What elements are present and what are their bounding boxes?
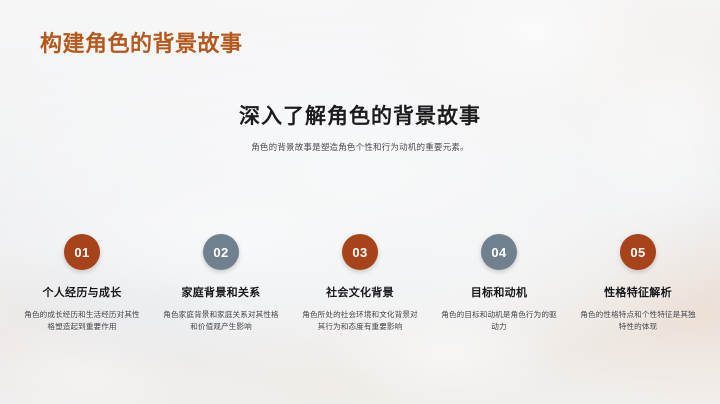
- step-number-badge-02: 02: [203, 234, 239, 270]
- step-number-badge-05: 05: [620, 234, 656, 270]
- feature-title-03: 社会文化背景: [326, 284, 394, 300]
- step-number-badge-01: 01: [64, 234, 100, 270]
- background-white-veil: [0, 0, 720, 404]
- feature-columns: 01 个人经历与成长 角色的成长经历和生活经历对其性格塑造起到重要作用 02 家…: [18, 234, 702, 334]
- feature-column-04: 04 目标和动机 角色的目标和动机是角色行为的驱动力: [435, 234, 563, 334]
- feature-title-01: 个人经历与成长: [42, 284, 121, 300]
- feature-column-05: 05 性格特征解析 角色的性格特点和个性特征是其独特性的体现: [574, 234, 702, 334]
- step-number-badge-04: 04: [481, 234, 517, 270]
- feature-column-01: 01 个人经历与成长 角色的成长经历和生活经历对其性格塑造起到重要作用: [18, 234, 146, 334]
- slide-title: 构建角色的背景故事: [40, 26, 243, 58]
- feature-description-05: 角色的性格特点和个性特征是其独特性的体现: [578, 309, 698, 334]
- feature-description-04: 角色的目标和动机是角色行为的驱动力: [439, 309, 559, 334]
- headline-block: 深入了解角色的背景故事 角色的背景故事是塑造角色个性和行为动机的重要元素。: [0, 100, 720, 153]
- feature-title-05: 性格特征解析: [604, 284, 672, 300]
- background-cool-tones: [0, 0, 720, 404]
- subheadline-text: 角色的背景故事是塑造角色个性和行为动机的重要元素。: [0, 141, 720, 153]
- presentation-slide: 构建角色的背景故事 深入了解角色的背景故事 角色的背景故事是塑造角色个性和行为动…: [0, 0, 720, 404]
- feature-title-04: 目标和动机: [471, 284, 528, 300]
- feature-description-02: 角色家庭背景和家庭关系对其性格和价值观产生影响: [161, 309, 281, 334]
- feature-description-01: 角色的成长经历和生活经历对其性格塑造起到重要作用: [22, 309, 142, 334]
- step-number-badge-03: 03: [342, 234, 378, 270]
- feature-column-02: 02 家庭背景和关系 角色家庭背景和家庭关系对其性格和价值观产生影响: [157, 234, 285, 334]
- feature-column-03: 03 社会文化背景 角色所处的社会环境和文化背景对其行为和态度有重要影响: [296, 234, 424, 334]
- feature-description-03: 角色所处的社会环境和文化背景对其行为和态度有重要影响: [300, 309, 420, 334]
- background-photo-base: [0, 0, 720, 404]
- headline-text: 深入了解角色的背景故事: [0, 100, 720, 130]
- background-feather-shapes: [0, 0, 720, 404]
- feature-title-02: 家庭背景和关系: [181, 284, 260, 300]
